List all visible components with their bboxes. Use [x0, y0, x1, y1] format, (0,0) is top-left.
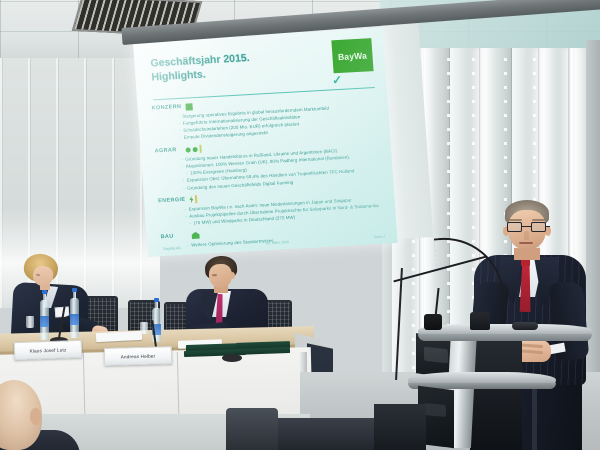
presentation-slide: BayWa Geschäftsjahr 2015. Highlights. ✓ …: [133, 27, 398, 256]
remote-clicker[interactable]: [512, 322, 538, 330]
lectern-logo-lower: [424, 403, 446, 417]
bottle-label: [70, 314, 79, 325]
bottle-cap: [154, 298, 159, 302]
section-label-energie: ENERGIE: [158, 196, 186, 205]
slide-section-konzern: KONZERN Steigerung operatives Ergebnis i…: [151, 92, 379, 143]
water-bottle: [40, 300, 49, 340]
speaker-eyebrow-left: [509, 219, 522, 221]
green-square-icon: [185, 103, 192, 110]
man-face: [209, 264, 233, 289]
screen-surface: BayWa Geschäftsjahr 2015. Highlights. ✓ …: [133, 27, 398, 256]
baywa-logo: BayWa: [331, 38, 373, 73]
conference-room-photo: BayWa Geschäftsjahr 2015. Highlights. ✓ …: [0, 0, 600, 450]
foreground-dark-object: [374, 404, 426, 450]
lectern-logo: [424, 347, 448, 364]
microphone-base[interactable]: [424, 314, 442, 330]
speaker-trouser-crease: [532, 384, 537, 450]
slide-section-agrar: AGRAR Gründung neuer Handelsbüros in Ruß…: [154, 135, 383, 193]
checkmark-icon: ✓: [332, 74, 343, 87]
lectern-column: [470, 338, 522, 450]
glasses-lens-left: [507, 222, 522, 232]
foreground-dark-object: [262, 418, 382, 450]
projection-screen: BayWa Geschäftsjahr 2015. Highlights. ✓ …: [132, 17, 406, 259]
glasses-temple: [546, 226, 550, 227]
speaker-nose: [524, 231, 529, 240]
baywa-logo-text: BayWa: [338, 50, 368, 62]
glasses-bridge: [522, 226, 531, 227]
nameplate-helber: Andreas Helber: [104, 346, 172, 366]
slide-footer-right: Seite 4: [374, 235, 385, 240]
foreground-chair-back: [226, 408, 278, 450]
lectern-top-edge: [418, 334, 592, 341]
nameplate-lutz-text: Klaus Josef Lutz: [29, 347, 66, 353]
house-icon: [191, 232, 199, 239]
section-label-konzern: KONZERN: [151, 103, 181, 112]
microphone-base-secondary[interactable]: [470, 312, 490, 330]
slide-body: KONZERN Steigerung operatives Ergebnis i…: [151, 92, 387, 255]
table-microphone-base[interactable]: [222, 354, 242, 362]
bottle-cap: [72, 288, 77, 292]
bolt-icon: [189, 196, 193, 203]
section-label-bau: BAU: [160, 232, 187, 240]
drinking-glass: [26, 316, 34, 328]
leaf-icon: [192, 147, 197, 152]
water-bottle: [70, 298, 79, 338]
nameplate-lutz: Klaus Josef Lutz: [14, 340, 83, 360]
pipe-icon: [195, 195, 198, 203]
nameplate-helber-text: Andreas Helber: [121, 353, 156, 359]
corn-icon: [199, 145, 202, 153]
audience-ear: [30, 408, 41, 425]
man-ear: [230, 272, 235, 279]
speaker-eyebrow-right: [532, 219, 545, 221]
bottle-cap: [42, 290, 47, 294]
section-label-agrar: AGRAR: [154, 146, 181, 154]
leaf-icon: [185, 147, 190, 152]
glasses-lens-right: [531, 222, 546, 232]
bottle-label: [40, 316, 49, 327]
